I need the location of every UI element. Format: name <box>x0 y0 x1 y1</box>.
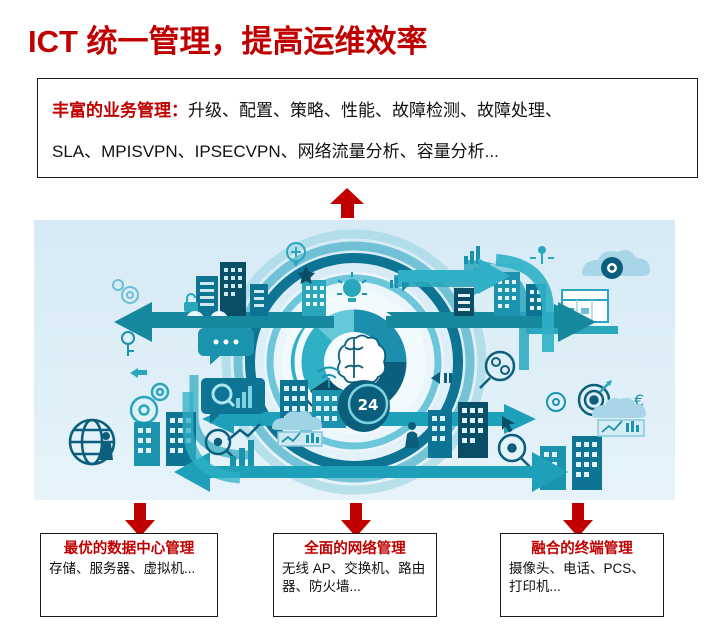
feature-callout-box: 丰富的业务管理：升级、配置、策略、性能、故障检测、故障处理、 SLA、MPISV… <box>37 78 698 178</box>
down-arrow-icon-2 <box>341 503 371 537</box>
bottom-box-terminal: 融合的终端管理 摄像头、电话、PCS、打印机... <box>500 533 664 617</box>
bottom-box-1-title: 最优的数据中心管理 <box>49 540 209 558</box>
down-arrow-shaft <box>350 503 362 521</box>
bottom-box-2-title: 全面的网络管理 <box>282 540 428 558</box>
infographic-svg: € <box>34 220 675 500</box>
up-arrow-icon <box>330 188 364 218</box>
down-arrow-shaft <box>572 503 584 521</box>
feature-label: 丰富的业务管理： <box>52 101 188 120</box>
feature-line-1-text: 升级、配置、策略、性能、故障检测、故障处理、 <box>188 101 562 120</box>
ict-infographic-image: € <box>34 220 675 500</box>
feature-line-2-text: SLA、MPISVPN、IPSECVPN、网络流量分析、容量分析... <box>52 137 499 162</box>
bottom-box-data-center: 最优的数据中心管理 存储、服务器、虚拟机... <box>40 533 218 617</box>
24-hour-badge: 24 <box>338 380 390 432</box>
up-arrow-shaft <box>341 202 354 218</box>
down-arrow-shaft <box>134 503 146 521</box>
down-arrow-icon-3 <box>563 503 593 537</box>
page-title: ICT 统一管理，提高运维效率 <box>28 16 428 61</box>
badge-24-text: 24 <box>358 396 379 414</box>
feature-line-1: 丰富的业务管理：升级、配置、策略、性能、故障检测、故障处理、 <box>52 96 562 121</box>
brain-icon <box>338 336 385 385</box>
bottom-box-2-body: 无线 AP、交换机、路由器、防火墙... <box>282 560 428 596</box>
bottom-box-3-body: 摄像头、电话、PCS、打印机... <box>509 560 655 596</box>
bottom-box-1-body: 存储、服务器、虚拟机... <box>49 560 209 578</box>
bottom-box-network: 全面的网络管理 无线 AP、交换机、路由器、防火墙... <box>273 533 437 617</box>
down-arrow-icon-1 <box>125 503 155 537</box>
bottom-box-3-title: 融合的终端管理 <box>509 540 655 558</box>
